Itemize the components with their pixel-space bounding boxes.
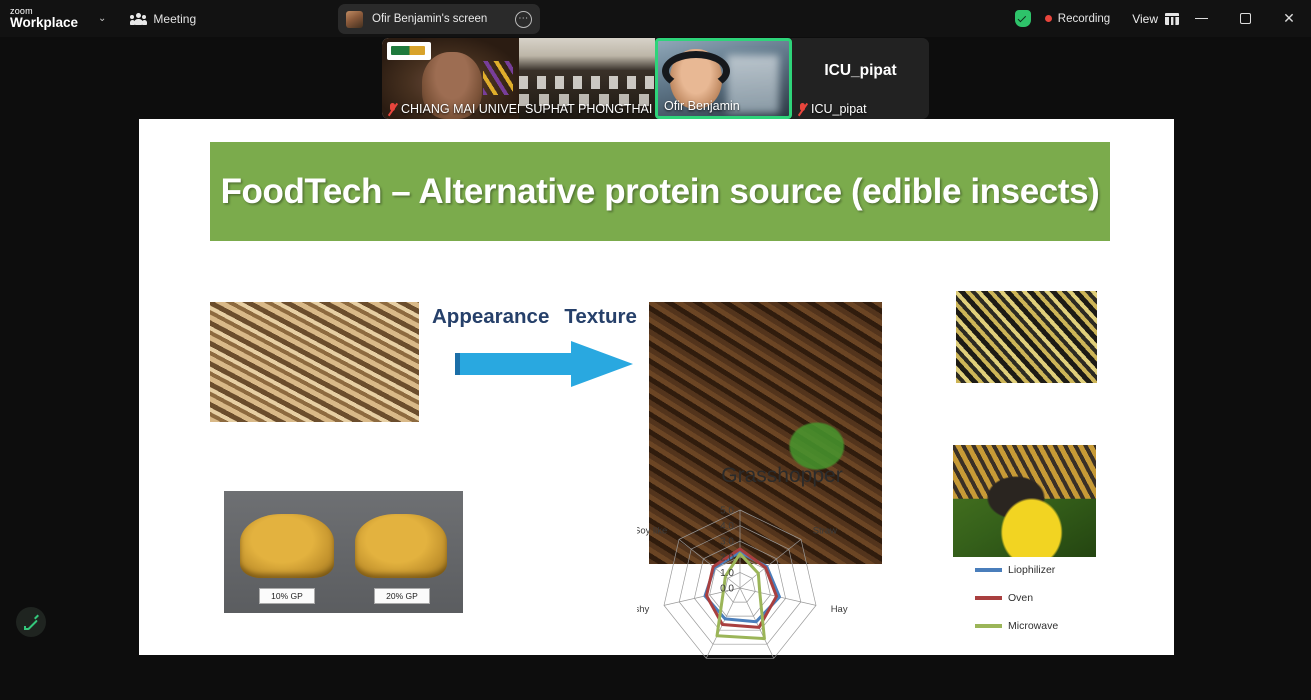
participant-tile-active-speaker[interactable]: Ofir Benjamin [655, 38, 792, 119]
zoom-workplace-logo: zoom Workplace [10, 7, 78, 30]
participant-tile[interactable]: ICU_pipat ICU_pipat [792, 38, 929, 119]
more-options-icon[interactable]: ⋯ [515, 11, 532, 28]
legend-swatch [975, 624, 1002, 627]
svg-text:2.0: 2.0 [720, 552, 734, 563]
zoom-title-bar: zoom Workplace ⌄ Meeting Ofir Benjamin's… [0, 0, 1311, 37]
pencil-icon [24, 615, 39, 630]
bread-slice [240, 514, 334, 578]
brand-line-workplace: Workplace [10, 16, 78, 30]
bread-slice [355, 514, 447, 578]
svg-text:4.0: 4.0 [720, 521, 734, 532]
headset-icon [662, 51, 730, 91]
radar-plot: MusroomStrawHayFishySoy like 0.01.02.03.… [637, 500, 937, 700]
sample-label: 10% GP [259, 588, 315, 604]
svg-text:Fishy: Fishy [637, 604, 650, 615]
agro-logo-icon [387, 42, 431, 60]
avatar [346, 11, 363, 28]
minimize-button[interactable] [1179, 0, 1223, 37]
slide-title: FoodTech – Alternative protein source (e… [221, 172, 1100, 212]
svg-text:Straw: Straw [813, 526, 837, 537]
tab-meeting[interactable]: Meeting [130, 12, 196, 26]
maximize-button[interactable] [1223, 0, 1267, 37]
label-appearance: Appearance [432, 305, 549, 329]
legend-swatch [975, 596, 1002, 599]
chevron-down-icon[interactable]: ⌄ [98, 13, 106, 24]
svg-text:0.0: 0.0 [720, 584, 734, 595]
recording-dot-icon [1045, 15, 1052, 22]
recording-label: Recording [1058, 13, 1110, 25]
participant-name: Ofir Benjamin [664, 99, 740, 113]
grasshopper-radar-chart: Grasshopper MusroomStrawHayFishySoy like… [617, 464, 1057, 655]
bread-slices-photo: 10% GP 20% GP [224, 491, 463, 613]
participant-name: CHIANG MAI UNIVERS... [401, 102, 519, 116]
legend-item: Microwave [975, 620, 1058, 632]
share-pill-label: Ofir Benjamin's screen [372, 13, 487, 25]
svg-text:Soy like: Soy like [637, 526, 667, 537]
svg-text:5.0: 5.0 [720, 506, 734, 517]
participant-tile[interactable]: CHIANG MAI UNIVERS... [382, 38, 519, 119]
mic-muted-icon [388, 103, 397, 116]
svg-text:Musroom: Musroom [720, 500, 760, 502]
annotate-button[interactable] [16, 607, 46, 637]
locusts-photo [956, 291, 1097, 383]
legend-item: Oven [975, 592, 1058, 604]
slide-title-banner: FoodTech – Alternative protein source (e… [210, 142, 1110, 241]
appearance-texture-labels: Appearance Texture [432, 303, 647, 331]
sample-label: 20% GP [374, 588, 430, 604]
tab-meeting-label: Meeting [153, 12, 196, 26]
legend-label: Oven [1008, 592, 1033, 604]
people-icon [130, 13, 146, 25]
view-label: View [1132, 12, 1158, 26]
recording-indicator[interactable]: Recording [1045, 13, 1110, 25]
participant-display-name: ICU_pipat [824, 62, 896, 80]
participant-tile[interactable]: SUPHAT PHONGTHAI [519, 38, 655, 119]
legend-label: Microwave [1008, 620, 1058, 632]
chart-legend: Liophilizer Oven Microwave [975, 564, 1058, 648]
participant-name: ICU_pipat [811, 102, 867, 116]
svg-text:3.0: 3.0 [720, 537, 734, 548]
grid-view-icon [1165, 13, 1179, 25]
participant-filmstrip: CHIANG MAI UNIVERS... SUPHAT PHONGTHAI O… [382, 38, 929, 119]
label-texture: Texture [564, 305, 637, 329]
titlebar-right-controls: Recording View ✕ [1015, 0, 1311, 37]
transformation-arrow-icon [455, 341, 635, 387]
close-button[interactable]: ✕ [1267, 0, 1311, 37]
participant-name: SUPHAT PHONGTHAI [525, 102, 652, 116]
svg-text:Hay: Hay [831, 604, 848, 615]
mealworms-photo [210, 302, 419, 422]
legend-label: Liophilizer [1008, 564, 1055, 576]
svg-text:1.0: 1.0 [720, 568, 734, 579]
decorative-chevrons [483, 61, 513, 95]
screen-share-indicator[interactable]: Ofir Benjamin's screen ⋯ [338, 4, 540, 34]
mic-muted-icon [798, 103, 807, 116]
shared-screen-slide: FoodTech – Alternative protein source (e… [139, 119, 1174, 655]
view-button[interactable]: View [1132, 12, 1179, 26]
meeting-security-icon[interactable] [1015, 10, 1031, 27]
legend-item: Liophilizer [975, 564, 1058, 576]
legend-swatch [975, 568, 1002, 571]
chart-title: Grasshopper [617, 464, 947, 488]
